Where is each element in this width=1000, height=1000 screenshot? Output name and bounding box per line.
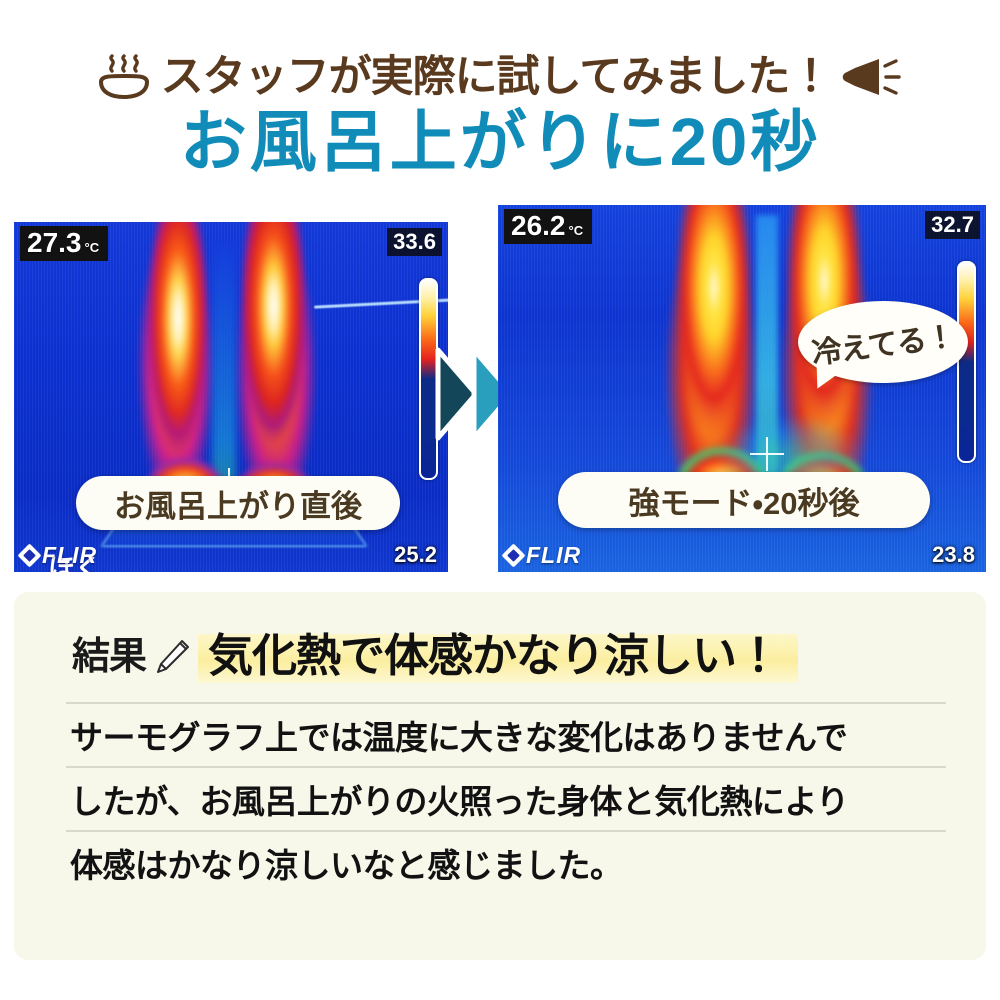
header-line1-text: スタッフが実際に試してみました！ [161, 56, 832, 99]
flir-wordmark: FLIR [526, 544, 581, 567]
result-panel: 結果 気化熱で体感かなり涼しい！ サーモグラフ上では温度に大きな変化はありません… [14, 592, 986, 960]
thermal-image-after: 26.2 °C 32.7 23.8 冷えてる！ FLIR 強モード・20秒後 [498, 205, 986, 572]
result-label: 結果 [72, 638, 146, 676]
caption-after: 強モード・20秒後 [558, 472, 930, 528]
header-line2: お風呂上がりに20秒 [0, 104, 1000, 181]
result-headline-text: 気化熱で体感かなり涼しい！ [208, 630, 780, 681]
header: スタッフが実際に試してみました！ お風呂上がりに20秒 [0, 0, 1000, 196]
result-body-line: したが、お風呂上がりの火照った身体と気化熱により [66, 766, 946, 830]
speech-bubble-text: 冷えてる！ [809, 311, 957, 372]
flir-wordmark: FLIR [42, 544, 97, 567]
result-body-line: サーモグラフ上では温度に大きな変化はありませんで [66, 702, 946, 766]
megaphone-icon [841, 56, 903, 98]
flir-logo-after: FLIR [505, 544, 581, 567]
temp-min-after: 23.8 [927, 541, 980, 568]
header-line1: スタッフが実際に試してみました！ [0, 48, 1000, 106]
temp-value: 27.3 [27, 227, 82, 258]
flir-logo-before: FLIR [21, 544, 97, 567]
caption-before: お風呂上がり直後 [76, 476, 400, 530]
temp-unit: °C [569, 224, 584, 239]
result-body-line: 体感はかなり涼しいなと感じました。 [66, 830, 946, 894]
speech-bubble-after: 冷えてる！ [798, 301, 968, 383]
temp-reading-before: 27.3 °C [20, 226, 108, 261]
flir-diamond-icon [17, 543, 41, 567]
temp-min-before: 25.2 [389, 541, 442, 568]
temperature-scale-bar [957, 261, 976, 463]
result-headline-row: 結果 気化熱で体感かなり涼しい！ [72, 628, 792, 685]
temp-value: 26.2 [511, 210, 566, 241]
result-headline: 気化熱で体感かなり涼しい！ [198, 628, 792, 685]
onsen-steam-icon [97, 54, 151, 100]
temp-unit: °C [85, 241, 100, 256]
result-body: サーモグラフ上では温度に大きな変化はありませんで したが、お風呂上がりの火照った… [66, 702, 946, 894]
flir-diamond-icon [501, 543, 525, 567]
header-line2-text: お風呂上がりに20秒 [180, 105, 821, 180]
temp-max-before: 33.6 [387, 228, 442, 256]
pencil-icon [152, 637, 192, 677]
temp-reading-after: 26.2 °C [504, 209, 592, 244]
thermal-image-before: 27.3 °C 33.6 25.2 ほく ほく FLIR お風呂上がり直後 [14, 222, 448, 572]
crosshair-icon [750, 437, 784, 471]
temp-max-after: 32.7 [925, 211, 980, 239]
